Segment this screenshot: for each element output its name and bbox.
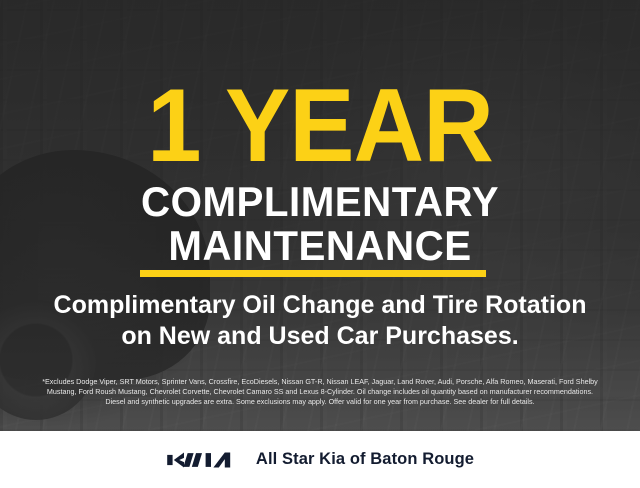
subheadline: Complimentary Oil Change and Tire Rotati… [24, 290, 616, 352]
headline-secondary-line-2: MAINTENANCE [13, 225, 627, 267]
yellow-divider-bar [140, 270, 486, 277]
footer-bar: All Star Kia of Baton Rouge [0, 431, 640, 488]
kia-logo-icon [166, 450, 238, 470]
headline-secondary-line-1: COMPLIMENTARY [13, 181, 627, 223]
disclaimer-line-3: Diesel and synthetic upgrades are extra.… [14, 397, 626, 407]
disclaimer-line-1: *Excludes Dodge Viper, SRT Motors, Sprin… [14, 377, 626, 387]
disclaimer-line-2: Mustang, Ford Roush Mustang, Chevrolet C… [14, 387, 626, 397]
hero-content: 1 YEAR COMPLIMENTARY MAINTENANCE Complim… [0, 0, 640, 431]
disclaimer-text: *Excludes Dodge Viper, SRT Motors, Sprin… [14, 377, 626, 407]
hero-section: 1 YEAR COMPLIMENTARY MAINTENANCE Complim… [0, 0, 640, 431]
subheadline-line-1: Complimentary Oil Change and Tire Rotati… [24, 290, 616, 321]
subheadline-line-2: on New and Used Car Purchases. [24, 321, 616, 352]
promotional-banner: 1 YEAR COMPLIMENTARY MAINTENANCE Complim… [0, 0, 640, 488]
dealer-name: All Star Kia of Baton Rouge [256, 450, 474, 469]
headline-primary: 1 YEAR [19, 76, 621, 176]
